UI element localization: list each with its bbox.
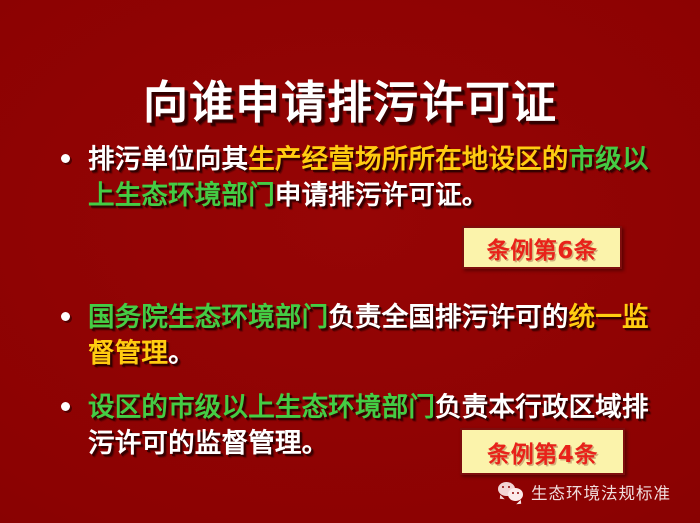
reference-badge-article-6: 条例第6条 [462,226,622,269]
wechat-icon [498,481,524,503]
bullet-1-segment-4: 申请排污许可证。 [275,180,489,211]
bullet-dot-icon [61,312,70,321]
bullet-dot-icon [61,402,70,411]
wechat-bubble-small [508,488,523,501]
presentation-slide: 向谁申请排污许可证 排污单位向其生产经营场所所在地设区的市级以上生态环境部门申请… [0,0,700,523]
reference-badge-label: 条例第4条 [487,435,598,469]
footer-account-name: 生态环境法规标准 [531,480,671,504]
bullet-item-1: 排污单位向其生产经营场所所在地设区的市级以上生态环境部门申请排污许可证。 [55,142,675,214]
bullet-2-segment-1: 国务院生态环境部门 [88,302,328,333]
bullet-item-2: 国务院生态环境部门负责全国排污许可的统一监督管理。 [55,300,675,372]
bullet-text-1: 排污单位向其生产经营场所所在地设区的市级以上生态环境部门申请排污许可证。 [88,142,675,214]
reference-badge-label: 条例第6条 [487,231,598,265]
bullet-3-segment-1: 设区的市级以上生态环境部门 [88,392,435,423]
bullet-text-2: 国务院生态环境部门负责全国排污许可的统一监督管理。 [88,300,675,372]
bullet-2-segment-2: 负责全国排污许可的 [328,302,568,333]
bullet-dot-icon [61,154,70,163]
bullet-2-segment-4: 。 [168,338,195,369]
page-title: 向谁申请排污许可证 [0,77,700,129]
bullet-1-segment-1: 排污单位向其 [88,144,248,175]
bullet-1-segment-2: 生产经营场所所在地设区的 [248,144,568,175]
footer-watermark: 生态环境法规标准 [498,480,671,504]
reference-badge-article-4: 条例第4条 [460,428,625,475]
